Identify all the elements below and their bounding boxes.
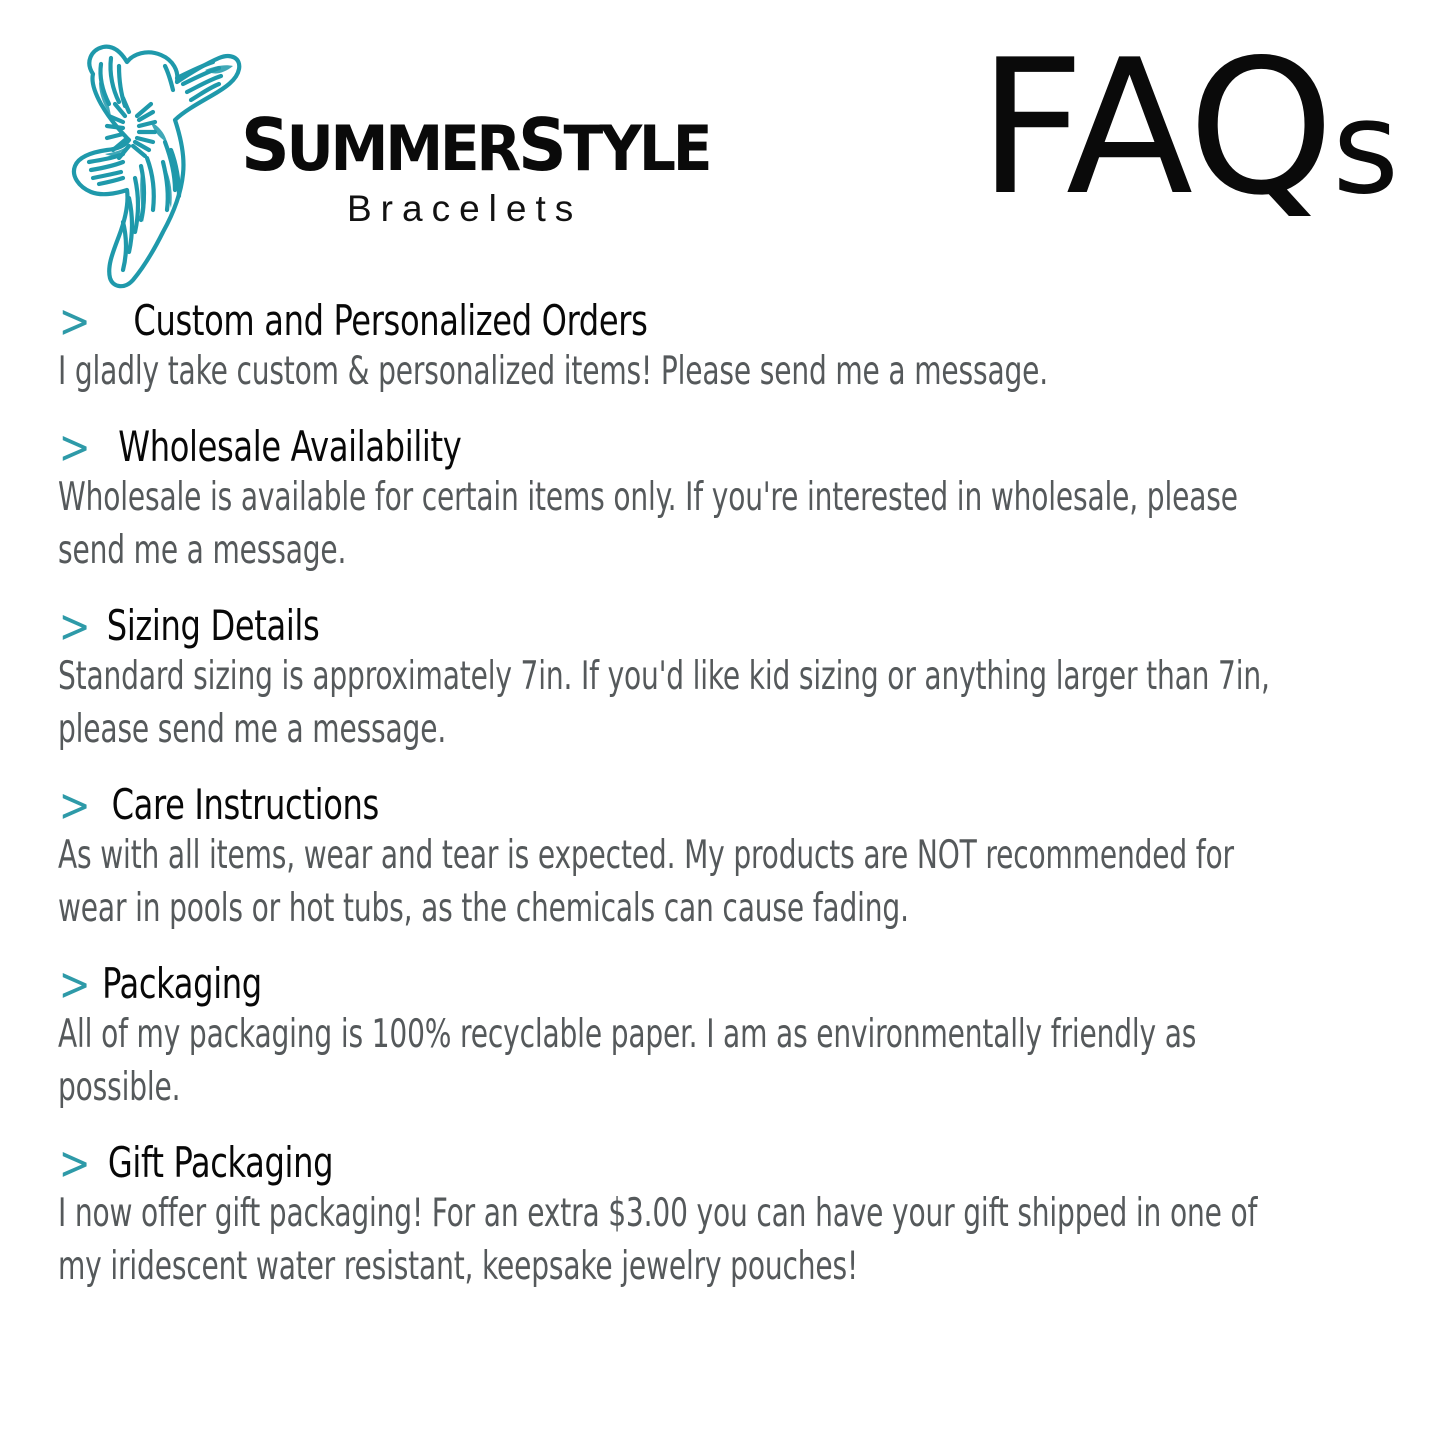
faq-heading[interactable]: > Custom and Personalized Orders	[58, 298, 1278, 344]
faq-heading-label: Care Instructions	[112, 782, 379, 828]
chevron-right-icon: >	[59, 604, 88, 650]
wordmark-cap-style: S	[518, 103, 563, 187]
page-header: SUMMERSTYLE Bracelets FAQs	[0, 0, 1445, 295]
chevron-right-icon: >	[59, 1141, 88, 1187]
chevron-right-icon: >	[59, 425, 88, 471]
faq-body-text: I gladly take custom & personalized item…	[58, 345, 1282, 398]
page-title: FAQs	[978, 35, 1397, 242]
faq-heading-label: Gift Packaging	[108, 1140, 333, 1186]
wordmark-rest-style: TYLE	[563, 112, 709, 185]
faq-heading[interactable]: > Sizing Details	[58, 603, 1278, 649]
faq-heading-label: Custom and Personalized Orders	[133, 298, 647, 344]
faq-heading-label: Packaging	[102, 961, 262, 1007]
faq-heading-label: Wholesale Availability	[118, 424, 461, 470]
faq-item-gift-packaging: > Gift Packaging I now offer gift packag…	[58, 1140, 1278, 1293]
wordmark-rest-summer: UMMER	[286, 112, 518, 185]
faq-heading[interactable]: > Care Instructions	[58, 782, 1278, 828]
faq-item-sizing: > Sizing Details Standard sizing is appr…	[58, 603, 1278, 756]
wordmark-cap-summer: S	[241, 103, 286, 187]
chevron-right-icon: >	[59, 962, 88, 1008]
faq-body-text: All of my packaging is 100% recyclable p…	[58, 1008, 1282, 1114]
faq-body-text: As with all items, wear and tear is expe…	[58, 829, 1282, 935]
starfish-icon	[55, 22, 245, 292]
page-title-lower: s	[1332, 74, 1397, 223]
faq-heading[interactable]: > Gift Packaging	[58, 1140, 1278, 1186]
brand-wordmark-main: SUMMERSTYLE	[241, 114, 645, 180]
faq-page: SUMMERSTYLE Bracelets FAQs > Custom and …	[0, 0, 1445, 1445]
faq-item-custom-orders: > Custom and Personalized Orders I gladl…	[58, 298, 1278, 398]
page-title-upper: FAQ	[978, 19, 1332, 236]
chevron-right-icon: >	[59, 299, 88, 345]
faq-item-packaging: > Packaging All of my packaging is 100% …	[58, 961, 1278, 1114]
brand-subtitle: Bracelets	[347, 189, 671, 229]
faq-heading[interactable]: > Wholesale Availability	[58, 424, 1278, 470]
faq-body-text: Wholesale is available for certain items…	[58, 471, 1282, 577]
chevron-right-icon: >	[59, 783, 88, 829]
brand-wordmark: SUMMERSTYLE Bracelets	[241, 114, 671, 229]
faq-body-text: I now offer gift packaging! For an extra…	[58, 1187, 1282, 1293]
faq-list: > Custom and Personalized Orders I gladl…	[58, 298, 1278, 1319]
faq-item-care: > Care Instructions As with all items, w…	[58, 782, 1278, 935]
faq-body-text: Standard sizing is approximately 7in. If…	[58, 650, 1282, 756]
faq-item-wholesale: > Wholesale Availability Wholesale is av…	[58, 424, 1278, 577]
faq-heading[interactable]: > Packaging	[58, 961, 1278, 1007]
faq-heading-label: Sizing Details	[107, 603, 320, 649]
brand-logo: SUMMERSTYLE Bracelets	[55, 22, 675, 292]
